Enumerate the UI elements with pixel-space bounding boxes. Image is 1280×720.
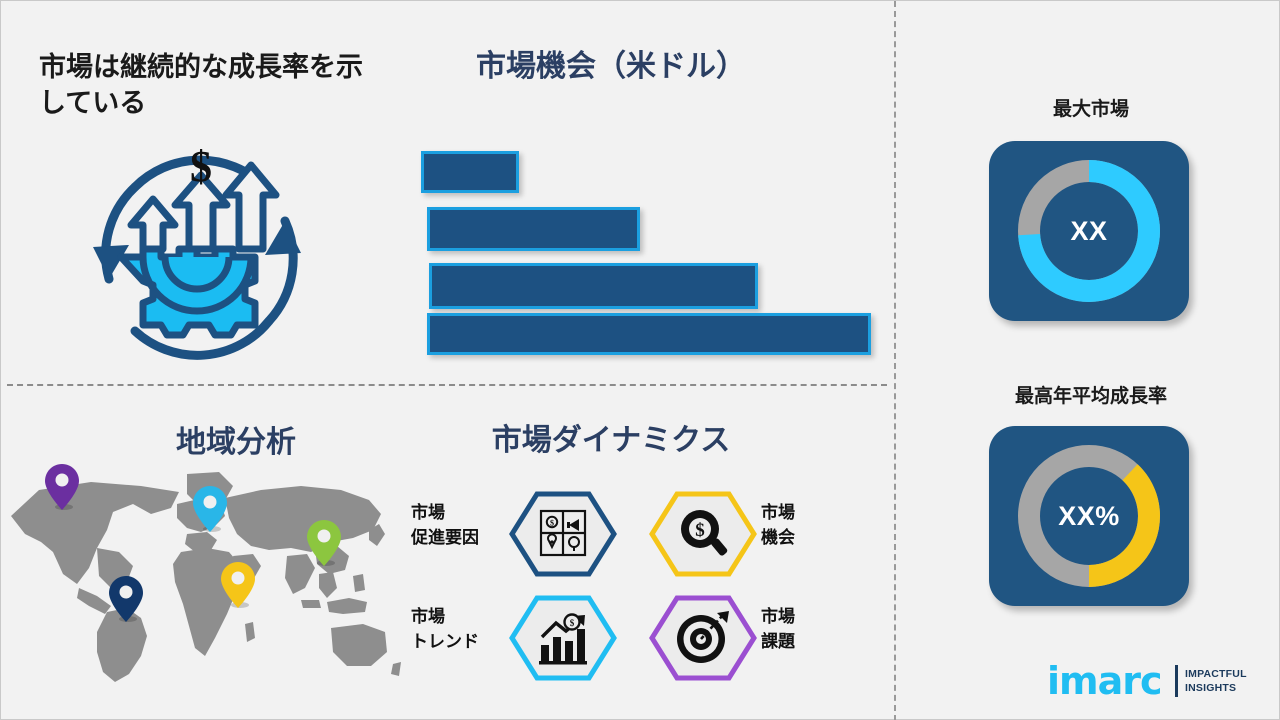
tagline-line-2: INSIGHTS (1185, 681, 1247, 695)
growth-panel-title: 市場は継続的な成長率を示している (39, 49, 389, 122)
highest-cagr-value: XX% (989, 426, 1189, 606)
market-opportunity-bar-chart (419, 147, 889, 355)
label-line-1: 市場 (761, 605, 853, 630)
tagline-line-1: IMPACTFUL (1185, 667, 1247, 681)
hexagon-market-trends: $ (509, 595, 617, 681)
bar-1 (421, 151, 519, 193)
hexagon-market-challenges (649, 595, 757, 681)
highest-cagr-card: XX% (989, 426, 1189, 606)
dynamics-item-market-challenges-label: 市場 課題 (761, 605, 853, 654)
vertical-divider (894, 1, 896, 720)
bar-2 (427, 207, 640, 251)
dynamics-item-market-opportunity[interactable]: $ 市場 機会 (649, 491, 879, 577)
bar-3 (429, 263, 758, 309)
infographic-slide: 市場は継続的な成長率を示している $ 市場機会（米ドル） (0, 0, 1280, 720)
horizontal-divider (7, 384, 887, 386)
map-pin-east-asia (307, 520, 341, 566)
svg-text:$: $ (190, 142, 212, 191)
map-pin-east-africa (221, 562, 255, 608)
largest-market-label: 最大市場 (961, 94, 1221, 121)
hexagon-market-opportunity: $ (649, 491, 757, 577)
svg-text:$: $ (570, 618, 575, 628)
label-line-2: トレンド (411, 630, 503, 655)
dynamics-item-market-trends[interactable]: 市場 トレンド $ (411, 595, 641, 681)
label-line-1: 市場 (411, 501, 503, 526)
imarc-wordmark: imarc (1047, 659, 1162, 703)
svg-text:$: $ (695, 520, 705, 541)
label-line-2: 促進要因 (411, 526, 503, 551)
map-pin-europe (193, 486, 227, 532)
dynamics-item-market-drivers-label: 市場 促進要因 (411, 501, 503, 550)
map-pin-north-america (45, 464, 79, 510)
label-line-2: 機会 (761, 526, 853, 551)
imarc-logo: imarc IMPACTFUL INSIGHTS (1047, 659, 1247, 705)
opportunity-panel-title: 市場機会（米ドル） (401, 49, 821, 85)
largest-market-card: XX (989, 141, 1189, 321)
label-line-1: 市場 (411, 605, 503, 630)
dynamics-item-market-trends-label: 市場 トレンド (411, 605, 503, 654)
world-map (1, 456, 401, 691)
imarc-tagline: IMPACTFUL INSIGHTS (1185, 667, 1247, 695)
map-pin-south-america (109, 576, 143, 622)
largest-market-value: XX (989, 141, 1189, 321)
label-line-1: 市場 (761, 501, 853, 526)
bar-4 (427, 313, 871, 355)
svg-text:$: $ (550, 519, 554, 528)
logo-divider (1175, 665, 1178, 697)
dynamics-item-market-drivers[interactable]: 市場 促進要因 $ (411, 491, 641, 577)
highest-cagr-label: 最高年平均成長率 (953, 381, 1229, 408)
label-line-2: 課題 (761, 630, 853, 655)
growth-cycle-gear-icon: $ (73, 129, 321, 369)
dynamics-item-market-opportunity-label: 市場 機会 (761, 501, 853, 550)
hexagon-market-drivers: $ (509, 491, 617, 577)
dynamics-item-market-challenges[interactable]: 市場 課題 (649, 595, 879, 681)
dynamics-panel-title: 市場ダイナミクス (401, 423, 821, 459)
